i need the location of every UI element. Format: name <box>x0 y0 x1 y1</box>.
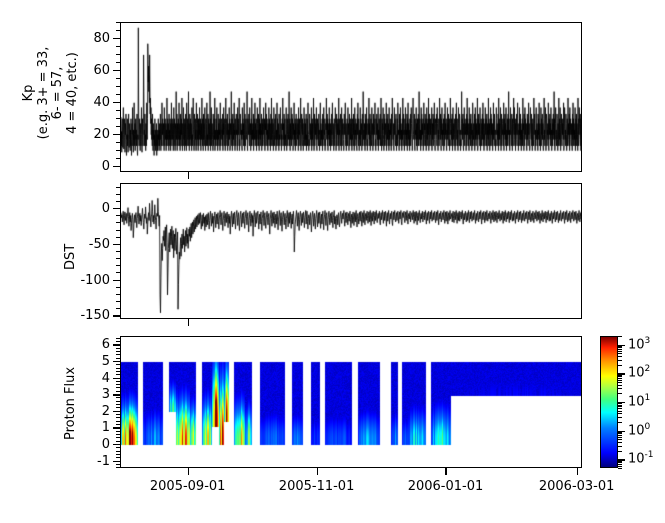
colorbar-tick-minor <box>618 417 622 418</box>
y-tick-minor <box>116 391 120 392</box>
y-tick-label: -50 <box>89 238 110 251</box>
colorbar-tick-minor <box>618 376 622 377</box>
y-tick-label: 20 <box>93 128 110 141</box>
x-tick-major <box>317 468 318 475</box>
proton-flux-axis-title: Proton Flux <box>64 367 79 440</box>
kp-axis-title: Kp (e.g. 3+ = 33, 6- = 57, 4 = 40, etc.) <box>22 18 80 168</box>
y-tick-label: 2 <box>102 405 110 418</box>
y-tick-minor <box>116 30 120 31</box>
colorbar-tick-minor <box>618 432 622 433</box>
colorbar-tick-minor <box>618 433 622 434</box>
colorbar-tick-minor <box>618 466 622 467</box>
y-tick-minor <box>116 215 120 216</box>
kp-title-line-1: Kp <box>22 18 37 168</box>
colorbar-tick-minor <box>618 437 622 438</box>
y-tick-major <box>113 134 120 135</box>
y-tick-major <box>113 102 120 103</box>
x-tick-label: 2006-01-01 <box>390 480 500 493</box>
y-tick-minor <box>116 201 120 202</box>
y-tick-minor <box>116 401 120 402</box>
y-tick-minor <box>116 62 120 63</box>
y-tick-minor <box>116 421 120 422</box>
y-tick-minor <box>116 461 120 462</box>
y-tick-minor <box>116 258 120 259</box>
y-tick-minor <box>116 86 120 87</box>
y-tick-minor <box>116 431 120 432</box>
y-tick-minor <box>116 467 120 468</box>
y-tick-minor <box>116 150 120 151</box>
y-tick-minor <box>116 194 120 195</box>
y-tick-minor <box>116 358 120 359</box>
y-tick-minor <box>116 434 120 435</box>
x-tick-label: 2006-03-01 <box>522 480 632 493</box>
y-tick-label: 60 <box>93 64 110 77</box>
colorbar-tick-minor <box>618 365 622 366</box>
y-tick-minor <box>116 294 120 295</box>
y-tick-minor <box>116 344 120 345</box>
y-tick-minor <box>116 381 120 382</box>
y-tick-label: 3 <box>102 388 110 401</box>
x-tick-major <box>188 468 189 475</box>
colorbar-tick-minor <box>618 336 622 337</box>
scientific-figure: 020406080 Kp (e.g. 3+ = 33, 6- = 57, 4 =… <box>0 0 665 523</box>
y-tick-minor <box>116 424 120 425</box>
kp-index-panel <box>120 22 582 172</box>
colorbar-tick-minor <box>618 451 622 452</box>
y-tick-minor <box>116 414 120 415</box>
colorbar-tick-minor <box>618 351 622 352</box>
y-tick-minor <box>116 404 120 405</box>
y-tick-minor <box>116 54 120 55</box>
dst-index-panel <box>120 183 582 319</box>
y-tick-label: 1 <box>102 421 110 434</box>
colorbar-tick-label: 100 <box>628 423 650 437</box>
y-tick-minor <box>116 364 120 365</box>
colorbar-tick-minor <box>618 393 622 394</box>
y-tick-minor <box>116 265 120 266</box>
y-tick-minor <box>116 222 120 223</box>
colorbar-tick-minor <box>618 378 622 379</box>
y-tick-minor <box>116 374 120 375</box>
dst-axis-title: DST <box>64 244 79 270</box>
colorbar-tick-minor <box>618 375 622 376</box>
y-tick-minor <box>116 378 120 379</box>
y-tick-minor <box>116 301 120 302</box>
colorbar-tick-minor <box>618 388 622 389</box>
y-tick-minor <box>116 444 120 445</box>
y-tick-minor <box>116 230 120 231</box>
y-tick-minor <box>116 417 120 418</box>
y-tick-minor <box>116 397 120 398</box>
colorbar-tick-label: 102 <box>628 365 650 379</box>
y-tick-label: 0 <box>102 438 110 451</box>
y-tick-minor <box>116 411 120 412</box>
colorbar-tick-minor <box>618 435 622 436</box>
y-tick-major <box>113 280 120 281</box>
kp-title-line-3: 6- = 57, <box>51 18 66 168</box>
colorbar <box>600 336 618 468</box>
y-tick-major <box>113 315 120 316</box>
colorbar-tick-minor <box>618 405 622 406</box>
y-tick-label: 80 <box>93 32 110 45</box>
dst-trace-canvas <box>121 184 582 319</box>
y-tick-label: 4 <box>102 372 110 385</box>
y-tick-minor <box>116 394 120 395</box>
y-tick-minor <box>116 142 120 143</box>
y-tick-label: -1 <box>97 455 110 468</box>
y-tick-minor <box>116 22 120 23</box>
y-tick-minor <box>116 308 120 309</box>
y-tick-label: 0 <box>102 202 110 215</box>
y-tick-minor <box>116 407 120 408</box>
y-tick-minor <box>116 371 120 372</box>
y-tick-minor <box>116 341 120 342</box>
kp-title-line-4: 4 = 40, etc.) <box>66 18 81 168</box>
colorbar-tick-minor <box>618 382 622 383</box>
y-tick-minor <box>116 454 120 455</box>
x-tick-major <box>577 468 578 475</box>
colorbar-tick-minor <box>618 411 622 412</box>
proton-flux-heatmap-canvas <box>121 337 582 468</box>
x-tick-label: 2005-09-01 <box>133 480 243 493</box>
colorbar-tick-minor <box>618 413 622 414</box>
kp-trace-canvas <box>121 23 582 172</box>
y-tick-minor <box>116 351 120 352</box>
y-tick-minor <box>116 384 120 385</box>
y-tick-major <box>113 166 120 167</box>
x-tick-major <box>445 468 446 475</box>
colorbar-tick-minor <box>618 353 622 354</box>
colorbar-tick-minor <box>618 385 622 386</box>
y-tick-minor <box>116 46 120 47</box>
y-tick-minor <box>116 368 120 369</box>
y-tick-minor <box>116 237 120 238</box>
colorbar-tick-minor <box>618 461 622 462</box>
colorbar-tick-minor <box>618 360 622 361</box>
colorbar-tick-minor <box>618 356 622 357</box>
colorbar-tick-minor <box>618 380 622 381</box>
proton-flux-spectrogram-panel <box>120 336 582 468</box>
x-tick-major <box>188 172 189 179</box>
y-tick-major <box>113 70 120 71</box>
colorbar-tick-minor <box>618 468 622 469</box>
y-tick-minor <box>116 348 120 349</box>
y-tick-label: 5 <box>102 355 110 368</box>
y-tick-minor <box>116 110 120 111</box>
y-tick-minor <box>116 354 120 355</box>
colorbar-tick-minor <box>618 439 622 440</box>
y-tick-minor <box>116 251 120 252</box>
colorbar-tick-minor <box>618 422 622 423</box>
y-tick-major <box>113 38 120 39</box>
y-tick-minor <box>116 437 120 438</box>
y-tick-major <box>113 208 120 209</box>
y-tick-minor <box>116 287 120 288</box>
colorbar-tick-minor <box>618 442 622 443</box>
y-tick-minor <box>116 427 120 428</box>
y-tick-minor <box>116 441 120 442</box>
y-tick-label: 0 <box>102 160 110 173</box>
colorbar-tick-minor <box>618 349 622 350</box>
y-tick-minor <box>116 272 120 273</box>
y-tick-minor <box>116 447 120 448</box>
colorbar-tick-label: 10-1 <box>628 451 654 465</box>
y-tick-minor <box>116 457 120 458</box>
colorbar-tick-minor <box>618 346 622 347</box>
y-tick-minor <box>116 451 120 452</box>
colorbar-tick-minor <box>618 462 622 463</box>
y-tick-minor <box>116 126 120 127</box>
colorbar-tick-minor <box>618 406 622 407</box>
y-tick-label: -100 <box>80 274 110 287</box>
y-tick-minor <box>116 361 120 362</box>
y-tick-minor <box>116 78 120 79</box>
y-tick-minor <box>116 158 120 159</box>
colorbar-tick-minor <box>618 464 622 465</box>
y-tick-label: 40 <box>93 96 110 109</box>
y-tick-label: -150 <box>80 309 110 322</box>
colorbar-tick-label: 101 <box>628 394 650 408</box>
y-tick-minor <box>116 387 120 388</box>
y-tick-minor <box>116 338 120 339</box>
x-tick-label: 2005-11-01 <box>262 480 372 493</box>
colorbar-tick-minor <box>618 403 622 404</box>
y-tick-minor <box>116 118 120 119</box>
y-tick-minor <box>116 187 120 188</box>
colorbar-tick-minor <box>618 446 622 447</box>
y-tick-minor <box>116 464 120 465</box>
colorbar-tick-label: 103 <box>628 337 650 351</box>
kp-title-line-2: (e.g. 3+ = 33, <box>37 18 52 168</box>
y-tick-major <box>113 244 120 245</box>
colorbar-tick-minor <box>618 408 622 409</box>
y-tick-label: 6 <box>102 338 110 351</box>
y-tick-minor <box>116 94 120 95</box>
colorbar-tick-minor <box>618 347 622 348</box>
x-tick-major <box>188 319 189 326</box>
